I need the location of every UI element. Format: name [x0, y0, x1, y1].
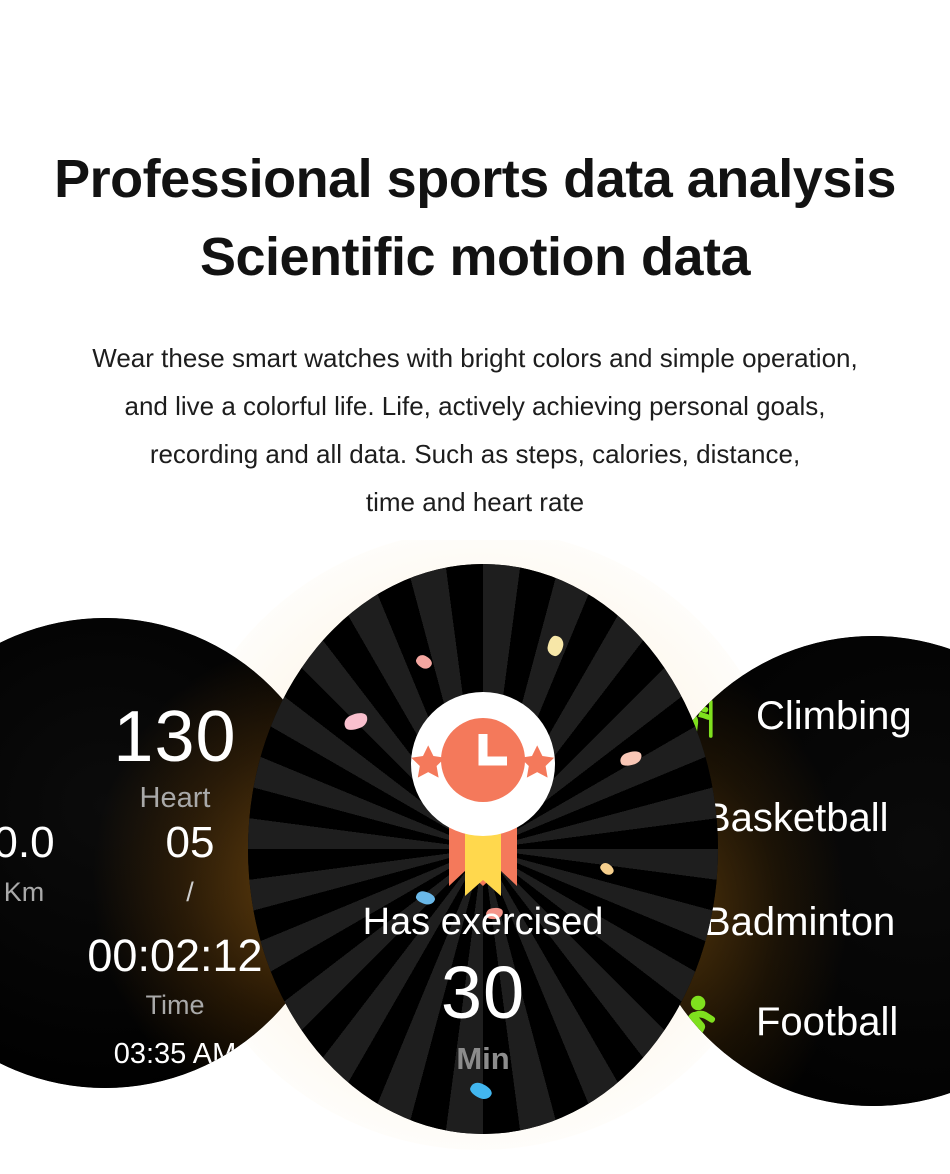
chevron-down-icon[interactable]	[163, 1086, 187, 1088]
watch-showcase: 130 Heart 0.0 Km 05 / 00:02:12 Time 03:3…	[0, 540, 950, 1174]
sport-list-item-label: Basketball	[704, 796, 889, 841]
description-line-4: time and heart rate	[0, 478, 950, 526]
clock-medal-icon	[403, 690, 563, 902]
description-line-3: recording and all data. Such as steps, c…	[0, 430, 950, 478]
description-line-1: Wear these smart watches with bright col…	[0, 334, 950, 382]
sport-list-item-label: Badminton	[704, 900, 895, 945]
headline-line-2: Scientific motion data	[0, 218, 950, 296]
promo-page: Professional sports data analysis Scient…	[0, 0, 950, 1174]
sport-list-item-label: Climbing	[756, 694, 912, 739]
distance-label: Km	[4, 877, 45, 908]
distance-value: 0.0	[0, 818, 55, 868]
watch-center-achievement[interactable]: Has exercised 30 Min	[248, 564, 718, 1134]
pace-value: 05	[166, 818, 215, 868]
achievement-unit: Min	[248, 1041, 718, 1077]
achievement-value: 30	[248, 950, 718, 1035]
pace-label: /	[186, 877, 194, 908]
achievement-subtitle: Has exercised	[248, 901, 718, 944]
description-line-2: and live a colorful life. Life, actively…	[0, 382, 950, 430]
page-title: Professional sports data analysis Scient…	[0, 140, 950, 296]
sport-list-item-label: Football	[756, 1000, 898, 1045]
description-paragraph: Wear these smart watches with bright col…	[0, 334, 950, 526]
headline-line-1: Professional sports data analysis	[0, 140, 950, 218]
